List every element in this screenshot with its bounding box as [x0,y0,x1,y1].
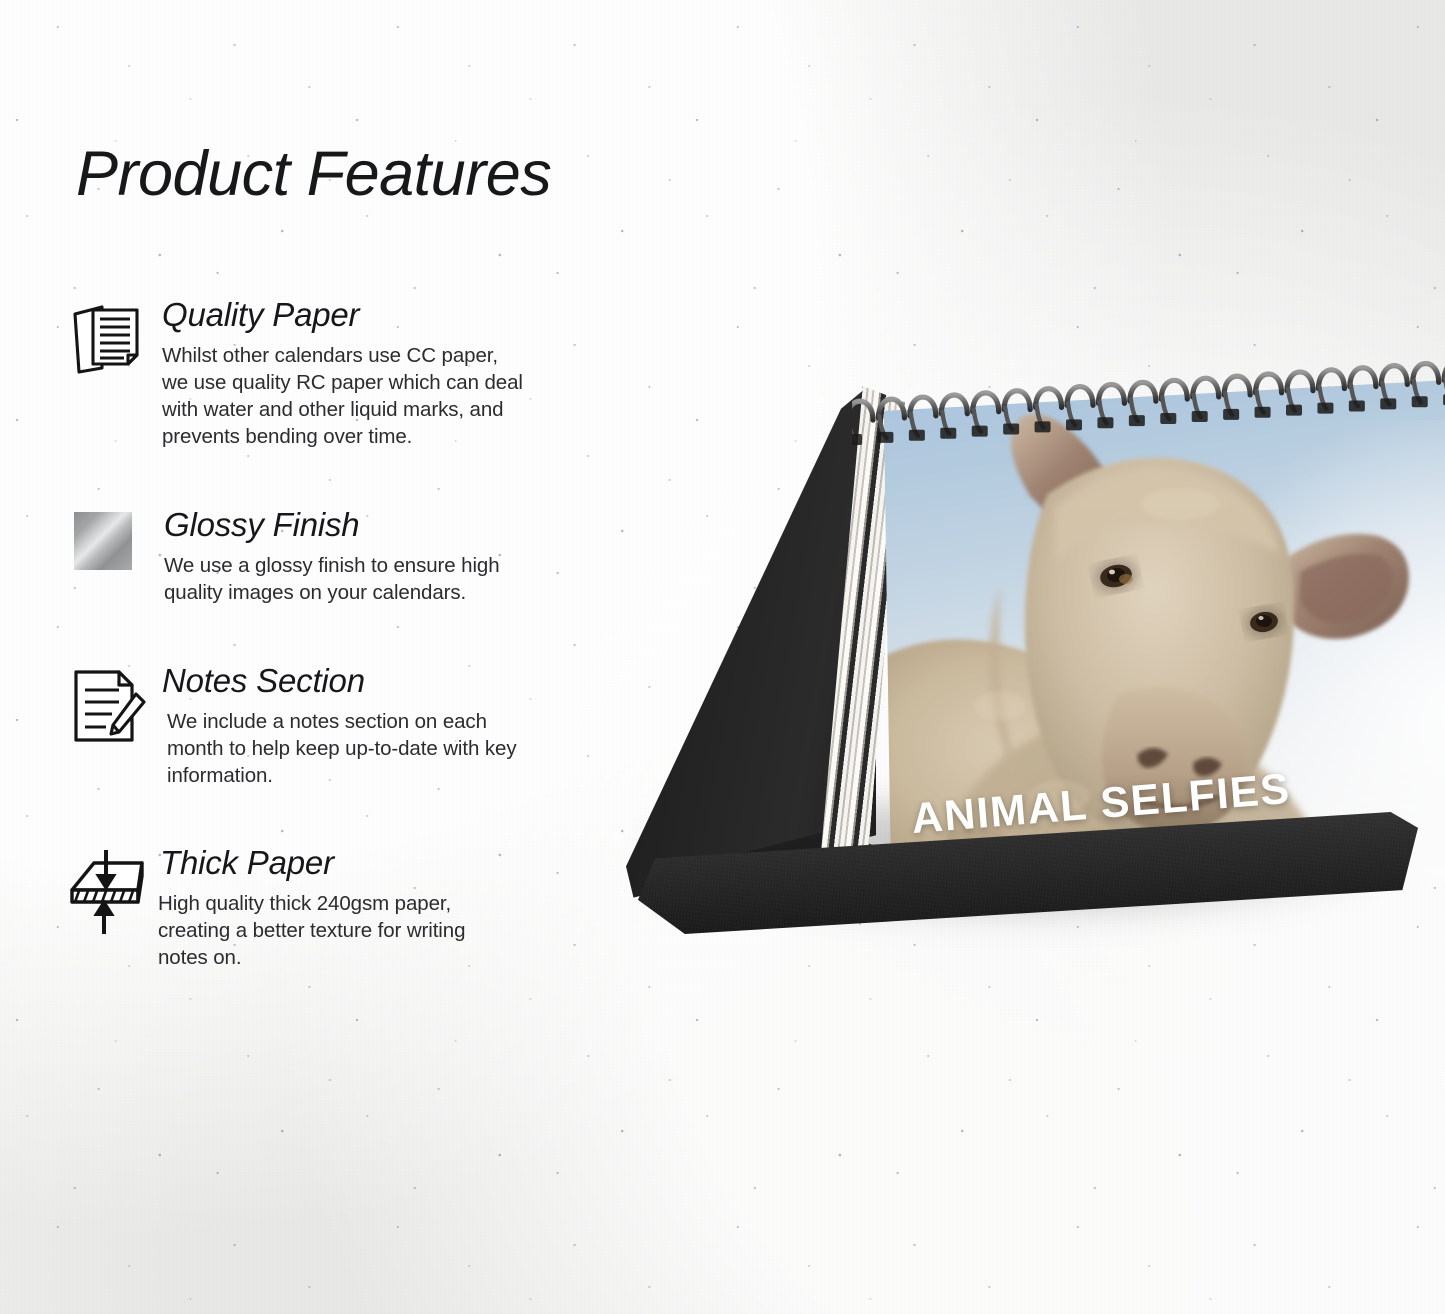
note-pencil-icon [66,664,152,750]
feature-item-glossy-finish: Glossy Finish We use a glossy finish to … [66,508,626,606]
feature-item-notes-section: Notes Section We include a notes section… [66,664,626,789]
feature-item-quality-paper: Quality Paper Whilst other calendars use… [66,298,626,451]
feature-description: Whilst other calendars use CC paper, we … [162,342,626,451]
thick-slab-icon [66,846,152,932]
feature-heading: Quality Paper [162,298,626,333]
feature-heading: Glossy Finish [164,508,626,543]
desk-calendar-mockup: ANIMAL SELFIES 2026 DESK CALENDAR [600,330,1420,990]
feature-heading: Thick Paper [158,846,626,881]
stacked-paper-icon [66,298,152,384]
infographic-canvas: Product Features [0,0,1445,1314]
glossy-swatch-icon [66,508,152,594]
feature-description: We include a notes section on each month… [167,708,626,790]
feature-heading: Notes Section [162,664,626,699]
feature-description: We use a glossy finish to ensure high qu… [164,552,626,607]
page-title: Product Features [76,138,551,210]
features-column: Product Features [0,0,640,1314]
spiral-binding-icon [852,330,1445,450]
feature-description: High quality thick 240gsm paper, creatin… [158,890,626,972]
feature-item-thick-paper: Thick Paper High quality thick 240gsm pa… [66,846,626,971]
